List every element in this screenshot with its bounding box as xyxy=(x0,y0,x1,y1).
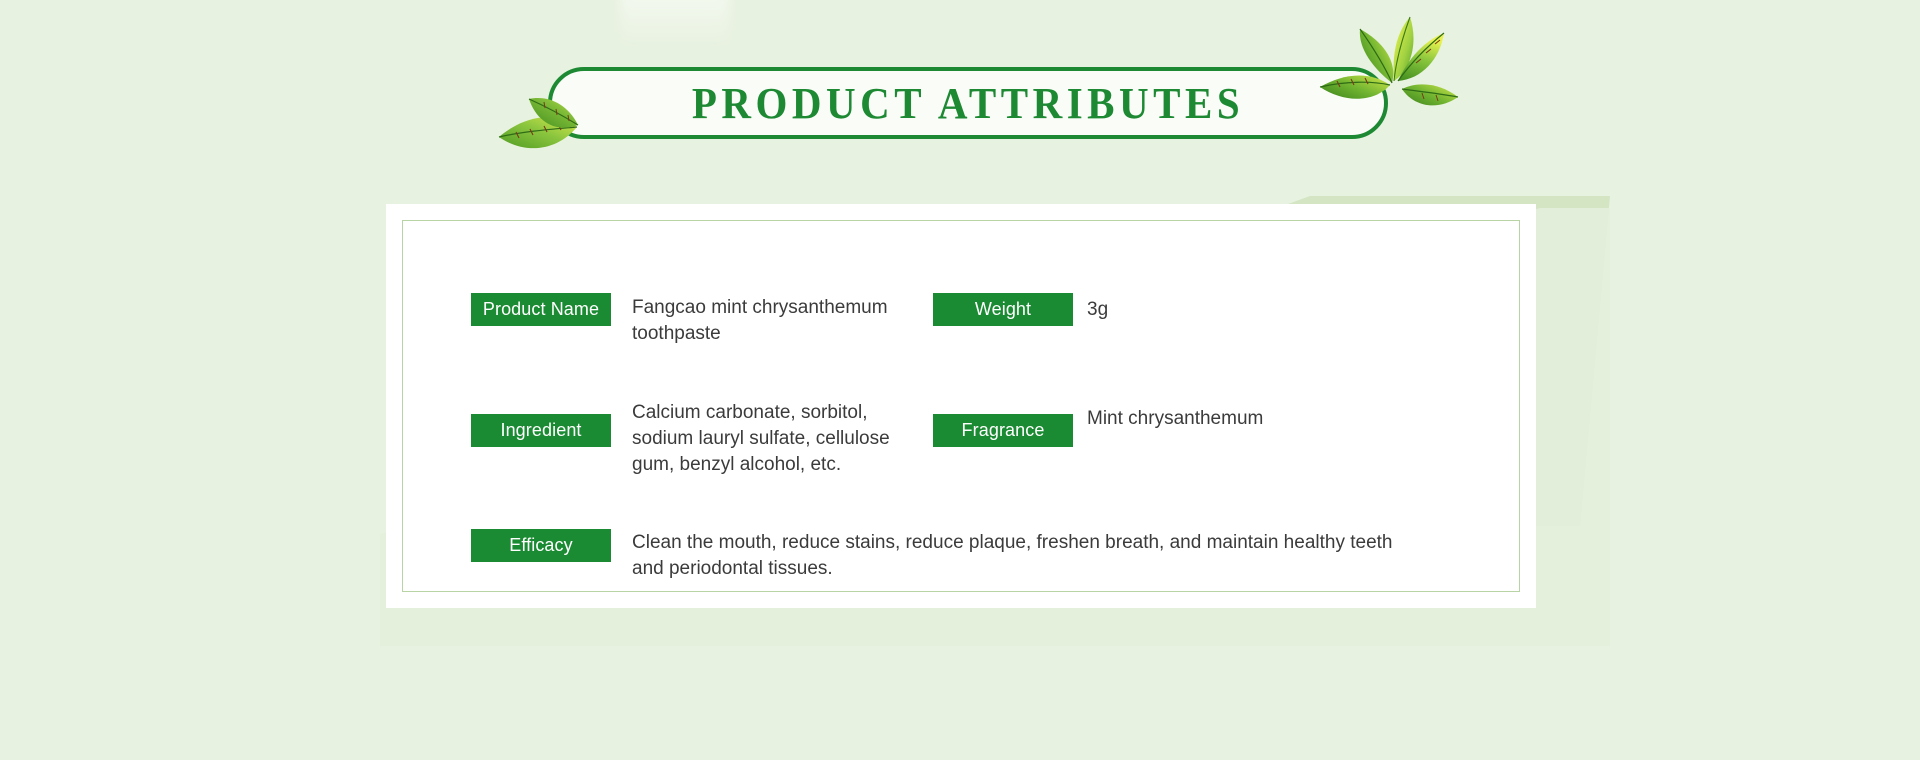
attribute-label-fragrance: Fragrance xyxy=(933,414,1073,447)
attribute-label-weight: Weight xyxy=(933,293,1073,326)
background-watermark xyxy=(620,0,730,50)
attribute-value-ingredient: Calcium carbonate, sorbitol, sodium laur… xyxy=(611,400,933,478)
attribute-cell-weight: Weight 3g xyxy=(933,293,1479,326)
page-title: PRODUCT ATTRIBUTES xyxy=(692,77,1244,129)
attribute-value-efficacy: Clean the mouth, reduce stains, reduce p… xyxy=(611,529,1411,582)
attribute-cell-ingredient: Ingredient Calcium carbonate, sorbitol, … xyxy=(471,400,933,478)
product-attributes-card: Product Name Fangcao mint chrysanthemum … xyxy=(386,204,1536,608)
title-pill: PRODUCT ATTRIBUTES xyxy=(548,67,1388,139)
attribute-row: Efficacy Clean the mouth, reduce stains,… xyxy=(471,529,1479,582)
attribute-value-fragrance: Mint chrysanthemum xyxy=(1073,400,1263,432)
attribute-cell-fragrance: Fragrance Mint chrysanthemum xyxy=(933,400,1479,447)
attribute-value-weight: 3g xyxy=(1073,293,1108,323)
attribute-label-product-name: Product Name xyxy=(471,293,611,326)
attribute-cell-product-name: Product Name Fangcao mint chrysanthemum … xyxy=(471,293,933,347)
card-inner-border: Product Name Fangcao mint chrysanthemum … xyxy=(402,220,1520,592)
attribute-label-ingredient: Ingredient xyxy=(471,414,611,447)
attribute-row: Ingredient Calcium carbonate, sorbitol, … xyxy=(471,400,1479,478)
page-title-banner: PRODUCT ATTRIBUTES xyxy=(548,67,1388,139)
attribute-label-efficacy: Efficacy xyxy=(471,529,611,562)
attribute-cell-efficacy: Efficacy Clean the mouth, reduce stains,… xyxy=(471,529,1479,582)
attribute-row: Product Name Fangcao mint chrysanthemum … xyxy=(471,293,1479,347)
attribute-value-product-name: Fangcao mint chrysanthemum toothpaste xyxy=(611,293,933,347)
